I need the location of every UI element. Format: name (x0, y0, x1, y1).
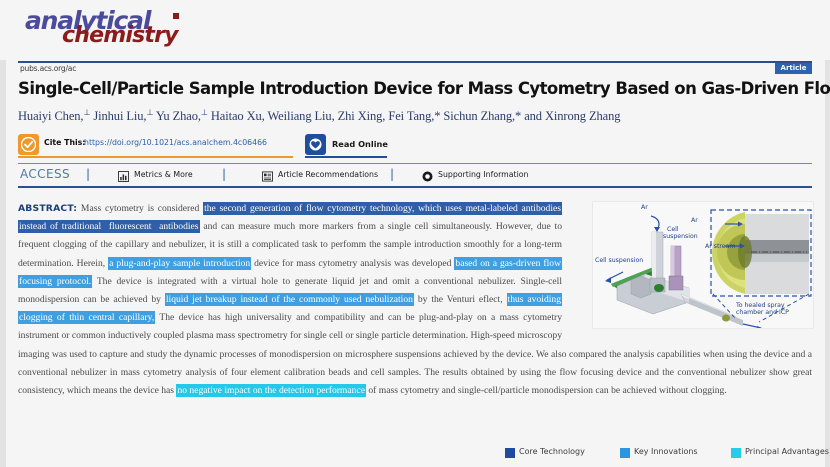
legend-swatch-core (505, 448, 515, 458)
journal-logo: analytical chemistry (22, 6, 202, 50)
abstract-highlight-key-5: based on a gas-driven flow focusing prot… (18, 257, 562, 288)
figure-label-to-spray-chamber-2: chamber and ICP (736, 309, 789, 317)
cite-underline (18, 156, 293, 158)
legend-swatch-adv (731, 448, 741, 458)
article-recommendations-link[interactable]: Article Recommendations (278, 170, 378, 179)
journal-masthead: analytical chemistry (0, 0, 830, 60)
journal-url[interactable]: pubs.acs.org/ac (20, 64, 76, 73)
access-divider-0: | (86, 167, 90, 181)
legend-label-adv: Principal Advantages (745, 447, 829, 456)
bar-chart-icon (118, 169, 129, 187)
access-label[interactable]: ACCESS (20, 167, 70, 181)
figure-label-cell-suspension: Cell suspension (595, 257, 643, 265)
metrics-and-more-link[interactable]: Metrics & More (134, 170, 193, 179)
header-rule (18, 61, 812, 63)
circle-dot-icon (422, 169, 433, 187)
access-top-rule (18, 163, 812, 164)
access-bottom-rule (18, 186, 812, 188)
logo-word-chemistry: chemistry (62, 23, 178, 48)
highlight-legend: Core Technology Key Innovations Principa… (505, 446, 825, 462)
figure-label-ar-stream: Ar stream (705, 243, 735, 251)
access-divider-2: | (390, 167, 394, 181)
check-circle-icon (18, 134, 39, 155)
page-left-edge (0, 0, 6, 467)
article-type-badge: Article (775, 63, 812, 74)
abstract-highlight-key-3: a plug-and-play sample introduction (108, 257, 251, 270)
abstract-highlight-key-7: liquid jet breakup instead of the common… (165, 293, 414, 306)
read-online-underline (305, 156, 387, 158)
supporting-information-link[interactable]: Supporting Information (438, 170, 529, 179)
page-right-edge (825, 0, 830, 467)
legend-swatch-key (620, 448, 630, 458)
cite-row: Cite This: https://doi.org/10.1021/acs.a… (18, 134, 518, 158)
abstract-highlight-adv-11: no negative impact on the detection perf… (176, 384, 366, 397)
access-divider-1: | (222, 167, 226, 181)
article-list-icon (262, 169, 273, 187)
legend-label-core: Core Technology (519, 447, 585, 456)
access-bar: ACCESS | Metrics & More | Article Recomm… (18, 163, 812, 187)
page-title: Single-Cell/Particle Sample Introduction… (18, 79, 812, 98)
doi-link[interactable]: https://doi.org/10.1021/acs.analchem.4c0… (84, 138, 267, 147)
cite-this-label: Cite This: (44, 138, 85, 147)
figure-label-ar-inset: Ar (691, 217, 698, 225)
legend-label-key: Key Innovations (634, 447, 698, 456)
author-list: Huaiyi Chen,⊥ Jinhui Liu,⊥ Yu Zhao,⊥ Hai… (18, 108, 812, 124)
abstract-lead-label: ABSTRACT: (18, 203, 77, 214)
figure-label-suspension: suspension (663, 233, 698, 241)
graphical-abstract-figure: Ar Cell suspension Cell suspension Ar Ar… (592, 201, 814, 329)
figure-label-ar-top: Ar (641, 204, 648, 212)
abstract-highlight-core-1: the second generation of flow cytometry … (18, 202, 562, 233)
paper-page: analytical chemistry pubs.acs.org/ac Art… (0, 0, 830, 467)
read-online-label[interactable]: Read Online (332, 139, 388, 149)
read-online-icon[interactable] (305, 134, 326, 155)
logo-dot (173, 13, 179, 19)
